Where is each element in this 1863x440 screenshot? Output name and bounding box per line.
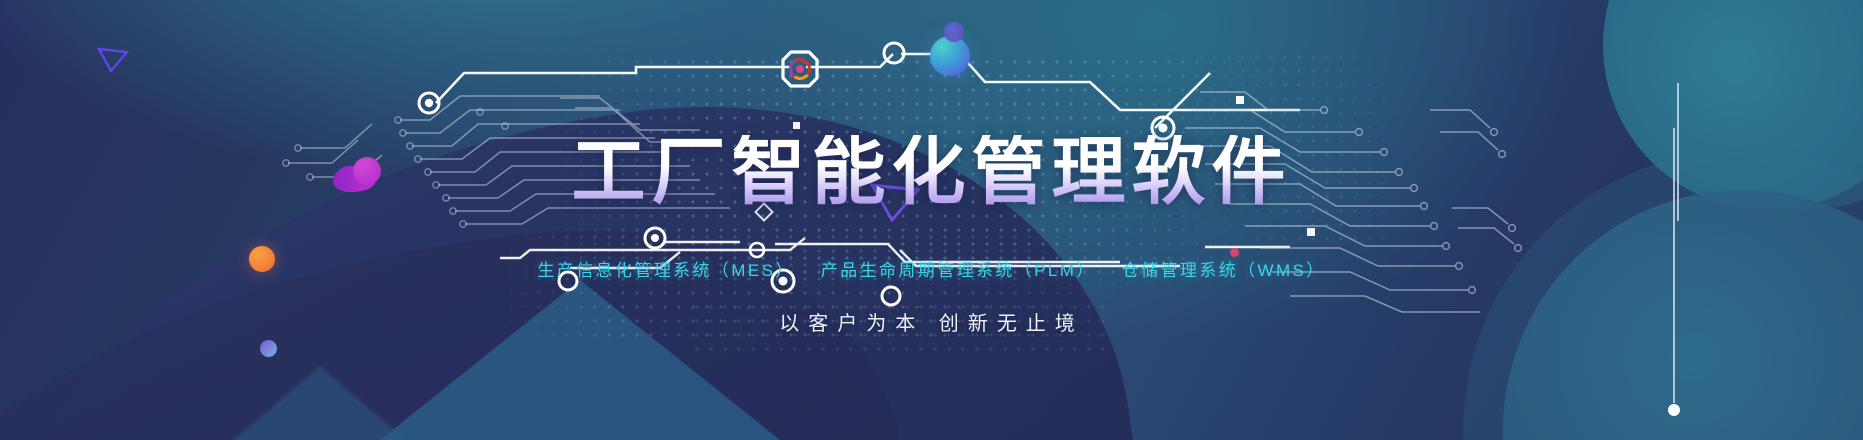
banner-content: 工厂智能化管理软件 生产信息化管理系统（MES） 产品生命周期管理系统（PLM）… — [0, 0, 1863, 440]
subtitle-item-wms: 仓储管理系统（WMS） — [1122, 256, 1326, 281]
hero-banner: 工厂智能化管理软件 生产信息化管理系统（MES） 产品生命周期管理系统（PLM）… — [0, 0, 1863, 440]
subtitle-item-plm: 产品生命周期管理系统（PLM） — [821, 256, 1096, 281]
banner-tagline: 以客户为本 创新无止境 — [779, 307, 1084, 336]
banner-subtitle-list: 生产信息化管理系统（MES） 产品生命周期管理系统（PLM） 仓储管理系统（WM… — [537, 256, 1325, 281]
banner-title: 工厂智能化管理软件 — [572, 135, 1292, 209]
subtitle-item-mes: 生产信息化管理系统（MES） — [537, 256, 794, 281]
